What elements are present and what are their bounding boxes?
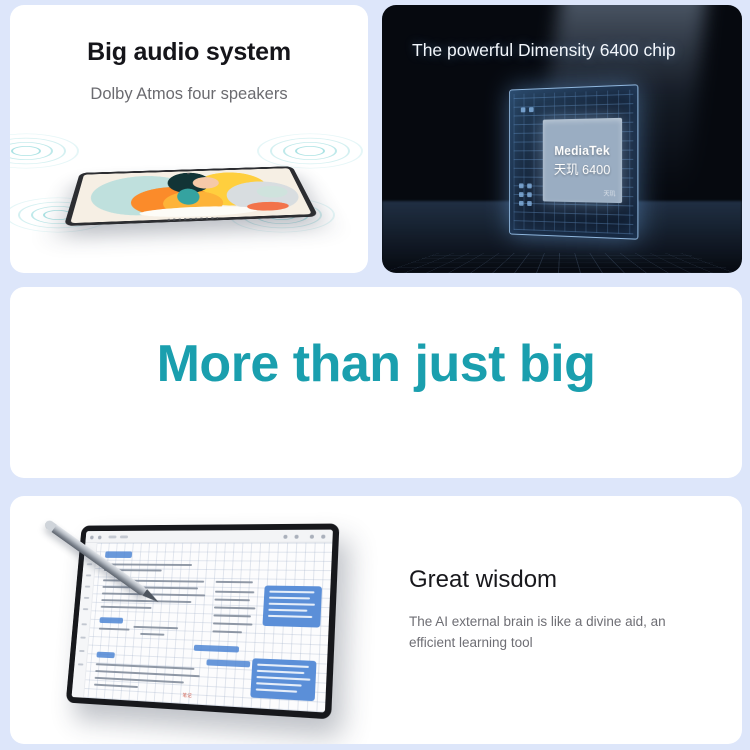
chip-brand-text: MediaTek <box>554 143 610 157</box>
notes-app-toolbar <box>85 530 333 543</box>
chip-model-text: 天玑 6400 <box>554 158 611 177</box>
chip-substrate: MediaTek 天玑 6400 天玑 <box>509 84 638 239</box>
notes-app-footer: 笔记 <box>182 693 192 700</box>
banner-headline: More than just big <box>10 334 742 394</box>
note-highlight-box <box>262 586 322 628</box>
chip-title: The powerful Dimensity 6400 chip <box>412 40 676 61</box>
speaker-grille-icon <box>168 217 218 221</box>
tablet-device-notes: 笔记 <box>66 524 340 720</box>
audio-title: Big audio system <box>10 38 368 67</box>
headline-banner-card: More than just big <box>10 287 742 478</box>
chip-corner-mark: 天玑 <box>603 188 615 197</box>
wisdom-title: Great wisdom <box>409 566 557 594</box>
front-camera-icon <box>186 173 189 175</box>
note-highlight-box <box>250 658 316 701</box>
audio-subtitle: Dolby Atmos four speakers <box>10 85 368 104</box>
audio-illustration <box>10 123 368 273</box>
product-feature-page: Big audio system Dolby Atmos four speake… <box>0 0 750 750</box>
audio-feature-card: Big audio system Dolby Atmos four speake… <box>10 5 368 273</box>
tablet-screen-artwork <box>70 168 312 223</box>
chip-illustration: MediaTek 天玑 6400 天玑 <box>504 87 639 237</box>
wisdom-subtitle: The AI external brain is like a divine a… <box>409 612 709 654</box>
tablet-device-audio <box>64 166 319 226</box>
chip-feature-card: The powerful Dimensity 6400 chip MediaTe… <box>382 5 742 273</box>
tablet-screen-notes: 笔记 <box>72 530 333 713</box>
chip-die-label: MediaTek 天玑 6400 天玑 <box>543 118 623 203</box>
wisdom-feature-card: 笔记 Great wisdom The AI external brain is… <box>10 496 742 744</box>
